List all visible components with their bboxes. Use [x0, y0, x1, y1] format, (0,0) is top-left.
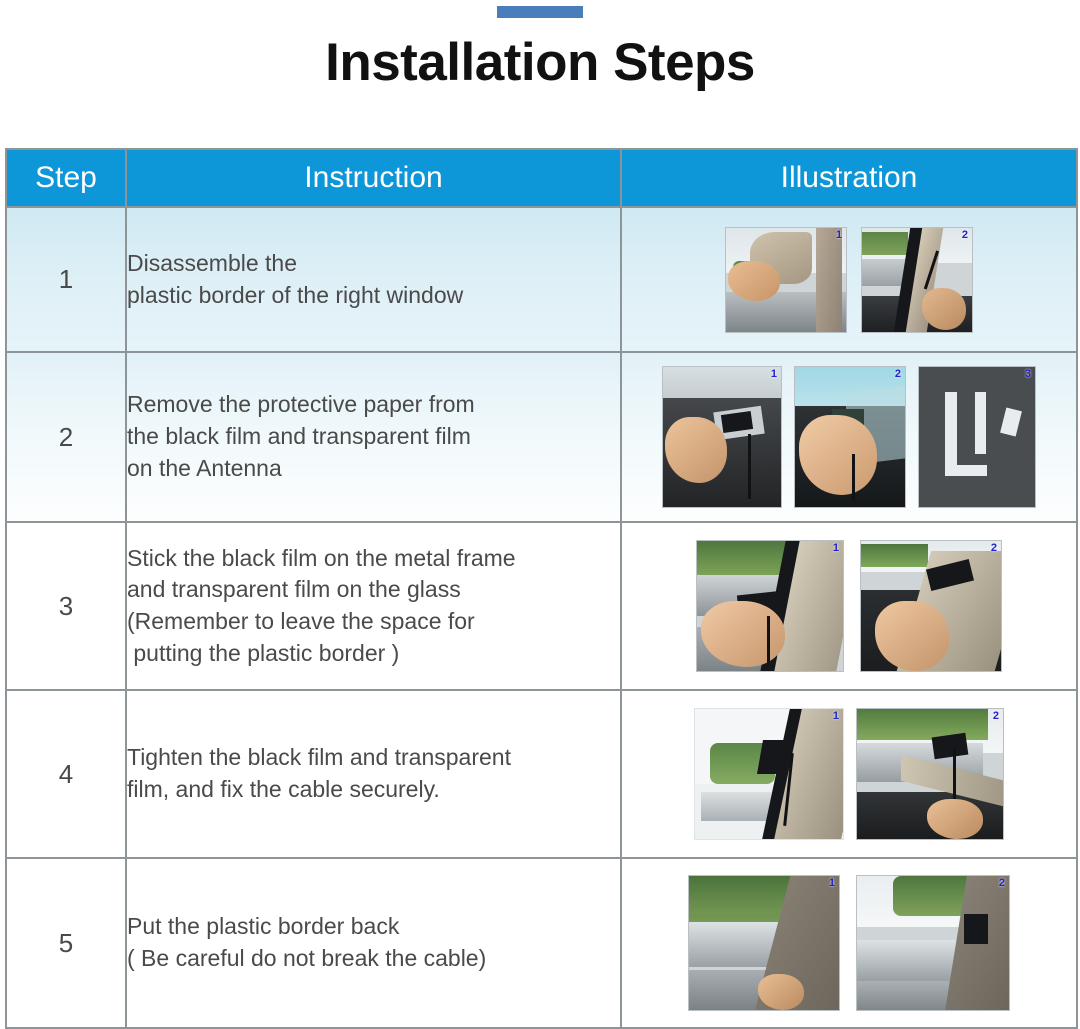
- step-number-cell: 4: [6, 690, 126, 858]
- photo-cable: [852, 454, 855, 502]
- illustration-badge: 1: [829, 877, 835, 889]
- illustration-image: 2: [856, 708, 1004, 840]
- top-accent-bar: [497, 6, 583, 18]
- step-number-cell: 2: [6, 352, 126, 522]
- column-header-step: Step: [6, 149, 126, 207]
- illustration-badge: 2: [962, 229, 968, 241]
- instruction-line: the black film and transparent film: [127, 421, 620, 453]
- illustration-badge: 2: [895, 368, 901, 380]
- table-row: 4 Tighten the black film and transparent…: [6, 690, 1077, 858]
- illustration-image: 2: [794, 366, 906, 508]
- illustration-image: 1: [688, 875, 840, 1011]
- instruction-cell: Disassemble the plastic border of the ri…: [126, 207, 621, 352]
- instruction-line: Put the plastic border back: [127, 911, 620, 943]
- table-row: 2 Remove the protective paper from the b…: [6, 352, 1077, 522]
- photo-black-film: [964, 914, 988, 944]
- table-header: Step Instruction Illustration: [6, 149, 1077, 207]
- illustration-image: 1: [725, 227, 847, 333]
- instruction-line: Tighten the black film and transparent: [127, 742, 620, 774]
- column-header-illustration: Illustration: [621, 149, 1077, 207]
- illustration-cell: 1 2: [621, 522, 1077, 690]
- illustration-badge: 2: [993, 710, 999, 722]
- illustration-image: 1: [694, 708, 844, 840]
- photo-cable: [953, 748, 956, 800]
- column-header-instruction: Instruction: [126, 149, 621, 207]
- page-title: Installation Steps: [0, 32, 1080, 93]
- illustration-badge: 2: [991, 542, 997, 554]
- illustration-badge: 3: [1025, 368, 1031, 380]
- step-number-cell: 1: [6, 207, 126, 352]
- instruction-line: (Remember to leave the space for: [127, 606, 620, 638]
- illustration-badge: 1: [771, 368, 777, 380]
- table-row: 1 Disassemble the plastic border of the …: [6, 207, 1077, 352]
- instruction-cell: Tighten the black film and transparent f…: [126, 690, 621, 858]
- photo-hand: [922, 288, 966, 330]
- photo-trees: [857, 709, 988, 740]
- photo-black-film: [932, 733, 969, 760]
- table-body: 1 Disassemble the plastic border of the …: [6, 207, 1077, 1028]
- instruction-line: plastic border of the right window: [127, 280, 620, 312]
- illustration-cell: 1 2: [621, 858, 1077, 1028]
- illustration-image: 1: [662, 366, 782, 508]
- illustration-badge: 1: [833, 542, 839, 554]
- illustration-image: 2: [861, 227, 973, 333]
- instruction-line: and transparent film on the glass: [127, 574, 620, 606]
- illustration-badge: 1: [836, 229, 842, 241]
- instruction-line: ( Be careful do not break the cable): [127, 943, 620, 975]
- illustration-image: 2: [856, 875, 1010, 1011]
- instruction-line: film, and fix the cable securely.: [127, 774, 620, 806]
- photo-antenna-bracket: [945, 392, 957, 473]
- illustration-cell: 1 2: [621, 352, 1077, 522]
- installation-steps-table: Step Instruction Illustration 1 Disassem…: [5, 148, 1078, 1029]
- instruction-line: on the Antenna: [127, 453, 620, 485]
- instruction-cell: Put the plastic border back ( Be careful…: [126, 858, 621, 1028]
- table-row: 5 Put the plastic border back ( Be caref…: [6, 858, 1077, 1028]
- step-number-cell: 3: [6, 522, 126, 690]
- photo-trees: [861, 544, 928, 567]
- photo-cable: [767, 616, 770, 663]
- table-row: 3 Stick the black film on the metal fram…: [6, 522, 1077, 690]
- photo-cable: [748, 434, 751, 498]
- photo-antenna-bracket: [945, 465, 987, 476]
- photo-door-pillar: [816, 228, 842, 332]
- header-row: Step Instruction Illustration: [6, 149, 1077, 207]
- illustration-image: 3: [918, 366, 1036, 508]
- instruction-line: putting the plastic border ): [127, 638, 620, 670]
- instruction-line: Stick the black film on the metal frame: [127, 543, 620, 575]
- illustration-image: 1: [696, 540, 844, 672]
- illustration-badge: 2: [999, 877, 1005, 889]
- instruction-cell: Remove the protective paper from the bla…: [126, 352, 621, 522]
- photo-antenna-bracket: [975, 392, 986, 454]
- illustration-cell: 1 2: [621, 690, 1077, 858]
- instruction-line: Remove the protective paper from: [127, 389, 620, 421]
- illustration-image: 2: [860, 540, 1002, 672]
- photo-hand: [728, 261, 780, 301]
- photo-trees: [862, 232, 908, 255]
- illustration-cell: 1 2: [621, 207, 1077, 352]
- step-number-cell: 5: [6, 858, 126, 1028]
- instruction-line: Disassemble the: [127, 248, 620, 280]
- illustration-badge: 1: [833, 710, 839, 722]
- instruction-cell: Stick the black film on the metal frame …: [126, 522, 621, 690]
